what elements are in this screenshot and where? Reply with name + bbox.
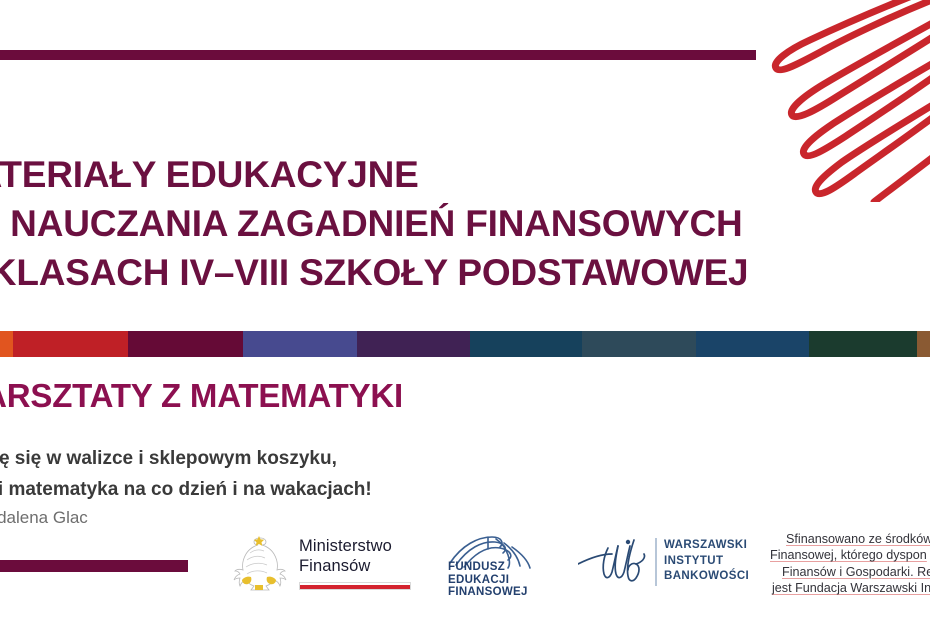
polish-flag-bar	[299, 582, 411, 590]
color-segment-orange	[0, 331, 13, 357]
funding-line-1: Sfinansowano ze środków	[770, 531, 930, 547]
fef-line-3: FINANSOWEJ	[448, 586, 528, 599]
fef-logo: FUNDUSZ EDUKACJI FINANSOWEJ	[448, 535, 558, 601]
wib-divider	[655, 538, 657, 586]
color-segment-wine	[128, 331, 243, 357]
color-segment-forest-green	[809, 331, 917, 357]
funding-line-4: jest Fundacja Warszawski In	[770, 580, 930, 596]
color-segment-slate	[582, 331, 696, 357]
polish-eagle-emblem-icon	[228, 533, 290, 599]
fef-line-2: EDUKACJI	[448, 574, 528, 587]
lead-line-1: Liczę się w walizce i sklepowym koszyku,	[0, 443, 372, 474]
color-segment-ochre-brown	[917, 331, 930, 357]
fef-line-1: FUNDUSZ	[448, 561, 528, 574]
color-segment-deep-violet	[357, 331, 470, 357]
color-segment-teal-blue	[470, 331, 582, 357]
title-line-2: DO NAUCZANIA ZAGADNIEŃ FINANSOWYCH	[0, 199, 930, 248]
color-segment-red	[13, 331, 128, 357]
page-title: MATERIAŁY EDUKACYJNE DO NAUCZANIA ZAGADN…	[0, 150, 930, 297]
ministry-wordmark: Ministerstwo Finansów	[299, 536, 411, 590]
wib-wordmark: WARSZAWSKI INSTYTUT BANKOWOŚCI	[664, 538, 749, 585]
wib-line-2: INSTYTUT	[664, 554, 749, 570]
color-segment-navy	[696, 331, 809, 357]
wib-logo: WARSZAWSKI INSTYTUT BANKOWOŚCI	[578, 534, 738, 596]
wib-line-1: WARSZAWSKI	[664, 538, 749, 554]
top-divider-rule	[0, 50, 756, 60]
section-heading: WARSZTATY Z MATEMATYKI	[0, 377, 403, 415]
promo-slide: MATERIAŁY EDUKACYJNE DO NAUCZANIA ZAGADN…	[0, 0, 930, 620]
funding-line-2: Finansowej, którego dyspon	[770, 547, 930, 563]
title-line-3: W KLASACH IV–VIII SZKOŁY PODSTAWOWEJ	[0, 248, 930, 297]
ministry-line-2: Finansów	[299, 556, 411, 576]
lead-paragraph: Liczę się w walizce i sklepowym koszyku,…	[0, 443, 372, 505]
funding-line-3: Finansów i Gospodarki. Rea	[770, 564, 930, 580]
funding-note: Sfinansowano ze środków Finansowej, któr…	[770, 531, 930, 597]
wib-line-3: BANKOWOŚCI	[664, 569, 749, 585]
fef-wordmark: FUNDUSZ EDUKACJI FINANSOWEJ	[448, 561, 528, 599]
bottom-divider-rule	[0, 560, 188, 572]
ministry-of-finance-logo: Ministerstwo Finansów	[228, 533, 411, 599]
title-line-1: MATERIAŁY EDUKACYJNE	[0, 150, 930, 199]
wib-signature-icon	[578, 534, 658, 590]
ministry-line-1: Ministerstwo	[299, 536, 411, 556]
lead-line-2: czyli matematyka na co dzień i na wakacj…	[0, 474, 372, 505]
color-strip	[0, 331, 930, 357]
author-name: Magdalena Glac	[0, 508, 88, 528]
color-segment-indigo	[243, 331, 357, 357]
